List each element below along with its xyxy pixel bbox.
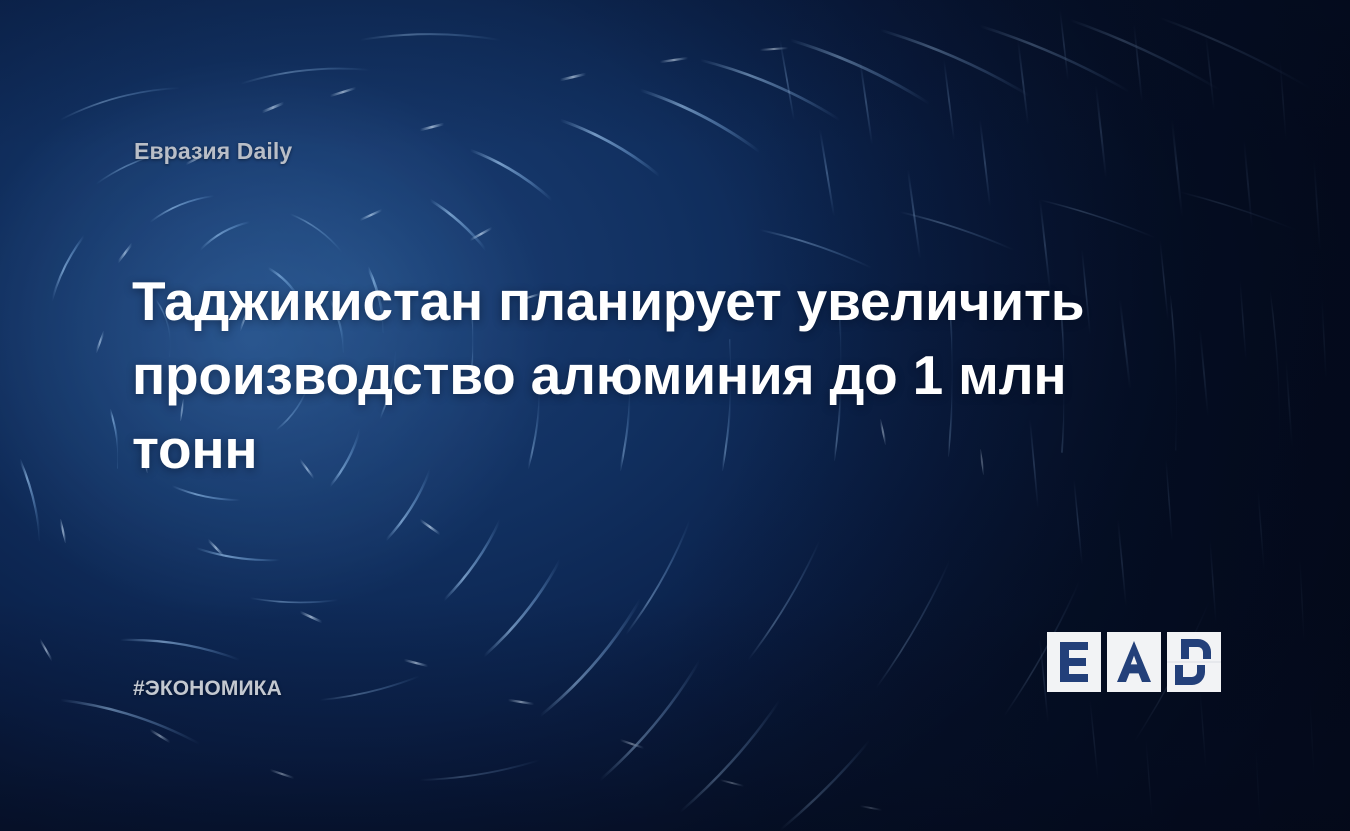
category-tag: #ЭКОНОМИКА: [133, 677, 282, 701]
card-content: Евразия Daily Таджикистан планирует увел…: [0, 0, 1350, 831]
ead-monogram-icon: [1045, 628, 1225, 696]
brand-name: Евразия Daily: [134, 138, 292, 165]
page-title: Таджикистан планирует увеличить производ…: [132, 264, 1142, 486]
share-card: Евразия Daily Таджикистан планирует увел…: [0, 0, 1350, 831]
ead-logo: [1045, 628, 1225, 696]
